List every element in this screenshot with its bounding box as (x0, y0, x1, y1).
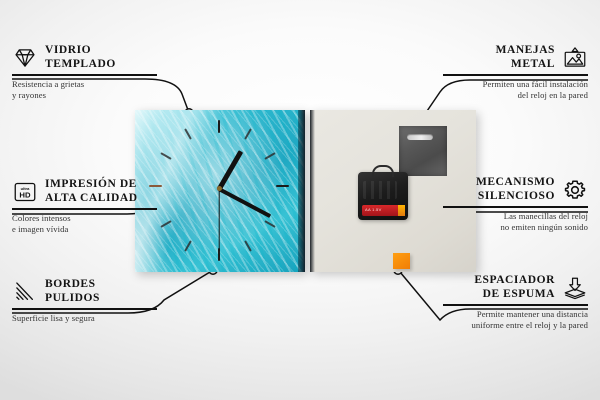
feature-title-line-1: MECANISMO (476, 176, 555, 188)
feature-desc-line-1: Las manecillas del reloj (504, 211, 588, 221)
feature-bordes-pulidos: BORDES PULIDOS Superficie lisa y segura (12, 278, 157, 324)
hour-tick-5 (244, 240, 252, 251)
feature-title-line-2: TEMPLADO (45, 58, 116, 70)
feature-title-line-1: VIDRIO (45, 44, 91, 56)
hour-tick-12 (218, 120, 220, 133)
metal-hanger-plate (399, 126, 447, 176)
hands-pivot (217, 186, 222, 191)
feature-desc-line-2: e imagen vívida (12, 224, 68, 234)
feature-title-line-1: IMPRESIÓN DE (45, 178, 137, 190)
feature-title-line-2: METAL (511, 58, 555, 70)
feature-rule (443, 304, 588, 305)
feature-rule (12, 208, 157, 209)
feature-rule (443, 74, 588, 75)
feature-desc-line-2: no emiten ningún sonido (500, 222, 588, 232)
feature-desc-line-2: y rayones (12, 90, 46, 100)
feature-desc-line-2: uniforme entre el reloj y la pared (472, 320, 589, 330)
beveled-edge-icon (12, 280, 38, 304)
feature-title-line-2: ALTA CALIDAD (45, 192, 138, 204)
feature-title-line-1: MANEJAS (496, 44, 555, 56)
feature-title-line-1: BORDES (45, 278, 96, 290)
foam-spacer-pad (393, 253, 410, 269)
second-hand (218, 189, 219, 251)
feature-impresion-alta-calidad: ultra HD IMPRESIÓN DE ALTA CALIDAD Color… (12, 178, 157, 236)
feature-manejas-metal: MANEJAS METAL Permiten una fácil instala… (443, 44, 588, 102)
hanger-slot (407, 134, 433, 140)
feature-desc-line-1: Resistencia a grietas (12, 79, 84, 89)
quartz-mechanism: AA 1.5V (358, 172, 408, 220)
hour-tick-4 (264, 220, 275, 228)
feature-desc-line-1: Superficie lisa y segura (12, 313, 95, 323)
mechanism-detail (363, 181, 397, 199)
battery-tab (398, 205, 405, 216)
feature-espaciador-espuma: ESPACIADOR DE ESPUMA Permite mantener un… (443, 274, 588, 332)
hour-tick-3 (276, 185, 289, 187)
feature-desc-line-1: Permiten una fácil instalación (483, 79, 588, 89)
gear-icon (562, 178, 588, 202)
ultra-hd-icon: ultra HD (12, 180, 38, 204)
feature-mecanismo-silencioso: MECANISMO SILENCIOSO Las manecillas del … (443, 176, 588, 234)
ultra-hd-icon-main-text: HD (19, 190, 31, 199)
feature-desc-line-1: Permite mantener una distancia (477, 309, 588, 319)
infographic-canvas: AA 1.5V VIDRIO TEMPLADO (0, 0, 600, 400)
foam-spacer-icon (562, 276, 588, 300)
feature-title-line-2: DE ESPUMA (483, 288, 555, 300)
feature-vidrio-templado: VIDRIO TEMPLADO Resistencia a grietas y … (12, 44, 157, 102)
feature-rule (12, 308, 157, 309)
feature-desc-line-2: del reloj en la pared (518, 90, 588, 100)
hour-tick-1 (244, 128, 252, 139)
feature-rule (12, 74, 157, 75)
feature-rule (443, 206, 588, 207)
feature-desc-line-1: Colores intensos (12, 213, 71, 223)
feature-title-line-2: PULIDOS (45, 292, 100, 304)
feature-title-line-2: SILENCIOSO (478, 190, 555, 202)
hour-tick-2 (264, 152, 275, 160)
clock-front-image (135, 110, 305, 272)
feature-title-line-1: ESPACIADOR (474, 274, 555, 286)
mechanism-loop (372, 165, 394, 177)
diamond-icon (12, 46, 38, 70)
minute-hand (218, 187, 271, 218)
picture-hanger-icon (562, 46, 588, 70)
